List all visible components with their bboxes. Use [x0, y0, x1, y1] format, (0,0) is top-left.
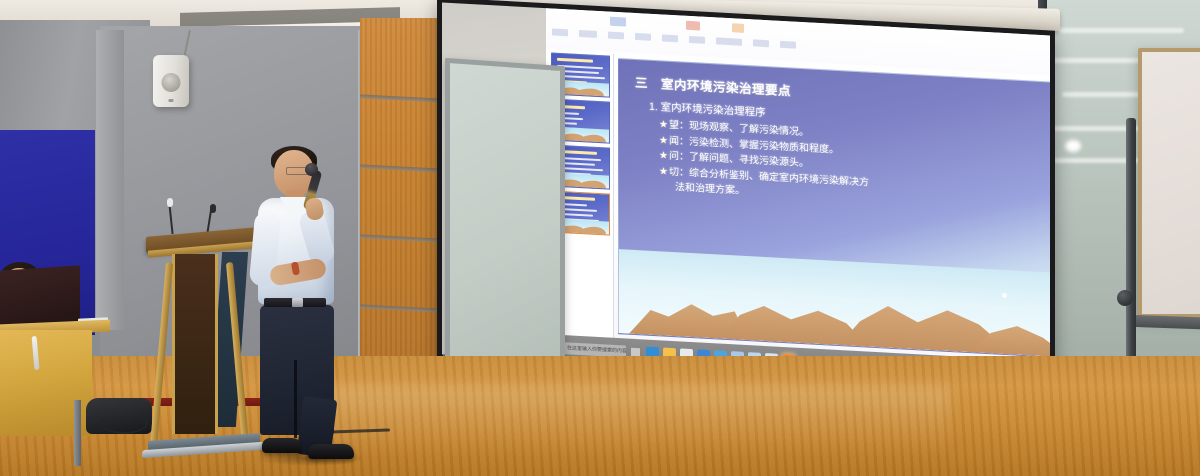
- whiteboard-stand-tray: [1130, 315, 1200, 329]
- presenter-shoe: [262, 438, 302, 453]
- mobile-whiteboard: [1138, 48, 1200, 318]
- ribbon-chip: [610, 17, 626, 27]
- wall-pillar: [96, 30, 124, 330]
- current-slide[interactable]: 三 室内环境污染治理要点 1. 室内环境污染治理程序 ★望：现场观察、了解污染情…: [618, 58, 1050, 358]
- desk-leg: [74, 400, 81, 466]
- star-bullet-icon: ★: [659, 166, 668, 177]
- tab-review[interactable]: [753, 39, 769, 47]
- tab-view[interactable]: [780, 40, 796, 48]
- speaker-led: [169, 99, 174, 102]
- projected-desktop[interactable]: 三 室内环境污染治理要点 1. 室内环境污染治理程序 ★望：现场观察、了解污染情…: [546, 8, 1050, 387]
- whiteboard-adjust-knob[interactable]: [1117, 290, 1133, 306]
- slide-bullet-list: ★望：现场观察、了解污染情况。 ★闻：污染检测、掌握污染物质和程度。 ★问：了解…: [659, 117, 1039, 215]
- laptop-screen: [0, 265, 80, 329]
- presenter: [248, 150, 366, 476]
- floor-reflection: [330, 386, 950, 456]
- slide-sun-dot: [1002, 293, 1007, 298]
- belt-buckle: [292, 298, 303, 307]
- lecture-hall-scene: 三 室内环境污染治理要点 1. 室内环境污染治理程序 ★望：现场观察、了解污染情…: [0, 0, 1200, 476]
- star-bullet-icon: ★: [659, 150, 668, 161]
- coiled-cable: [100, 412, 148, 434]
- tab-animations[interactable]: [689, 35, 705, 43]
- tab-transitions[interactable]: [662, 34, 678, 42]
- wall-speaker-icon: [153, 55, 189, 107]
- tab-file[interactable]: [552, 28, 568, 36]
- tab-insert[interactable]: [608, 31, 624, 39]
- lectern-front-panel: [172, 254, 218, 434]
- tab-home[interactable]: [579, 29, 597, 37]
- microphone-head-icon: [167, 198, 173, 207]
- tab-design[interactable]: [635, 32, 651, 40]
- speaker-cone-icon: [162, 73, 181, 92]
- wall-whiteboard: [445, 58, 565, 371]
- microphone-head-icon: [210, 204, 216, 213]
- star-bullet-icon: ★: [659, 119, 668, 130]
- ribbon-chip: [732, 23, 744, 33]
- lectern-leg: [150, 262, 173, 447]
- glass-streak: [1058, 28, 1184, 33]
- glass-highlight: [1065, 140, 1081, 152]
- lectern: [146, 232, 264, 462]
- presenter-shoe: [308, 444, 354, 459]
- tab-slideshow[interactable]: [716, 37, 742, 45]
- ribbon-chip: [686, 21, 700, 31]
- star-bullet-icon: ★: [659, 135, 668, 146]
- trouser-seam: [294, 360, 297, 438]
